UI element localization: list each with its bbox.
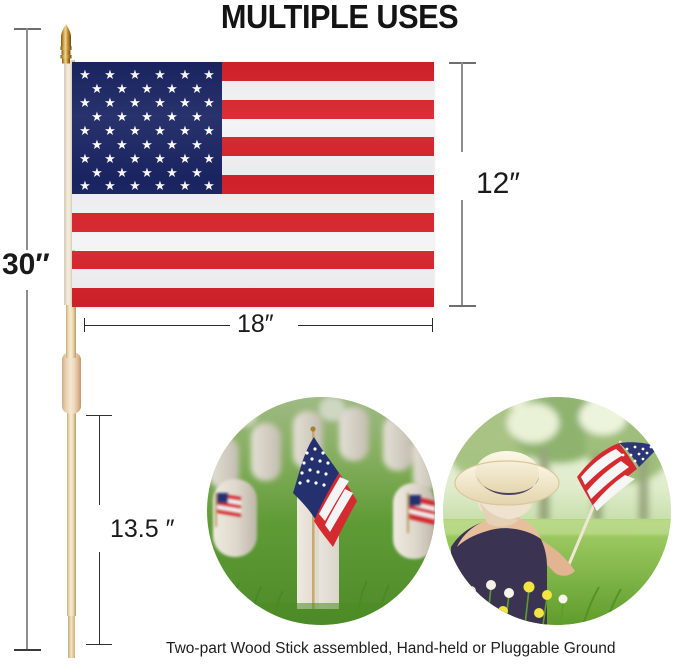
dimension-flag-height-label: 12″ <box>476 167 520 201</box>
flag-star: ★ <box>128 68 142 81</box>
flag-star: ★ <box>78 124 92 137</box>
flag-stripe-white-6 <box>72 269 434 288</box>
flag-star: ★ <box>78 96 92 109</box>
flag-star: ★ <box>202 68 216 81</box>
woman-with-flag-illustration <box>443 397 671 625</box>
pole-mid-shaft <box>66 300 76 358</box>
flag-star: ★ <box>90 82 104 95</box>
flag-star: ★ <box>153 179 167 192</box>
flag-star: ★ <box>115 110 129 123</box>
flag-star: ★ <box>190 166 204 179</box>
flag-star: ★ <box>178 96 192 109</box>
flag-star: ★ <box>202 179 216 192</box>
flag-star: ★ <box>128 152 142 165</box>
flag-star: ★ <box>153 124 167 137</box>
flag-star: ★ <box>103 68 117 81</box>
flag-star: ★ <box>178 124 192 137</box>
flag-star: ★ <box>115 166 129 179</box>
flag-star: ★ <box>90 110 104 123</box>
flag-star: ★ <box>128 179 142 192</box>
gold-spear-finial <box>54 24 78 64</box>
cemetery-scene-illustration <box>207 397 435 625</box>
flag-star: ★ <box>190 82 204 95</box>
flag-canton: ★ ★ ★ ★ ★ ★ ★ ★ ★ ★ ★ ★ ★ ★ ★ ★ ★ ★ ★ ★ … <box>72 62 222 194</box>
page-title: MULTIPLE USES <box>24 0 655 36</box>
dimension-lower-stick-bottom-cap <box>86 644 112 645</box>
woman-holding-flag-photo <box>443 397 671 625</box>
dimension-flag-width-label: 18″ <box>237 310 274 339</box>
flag-star: ★ <box>103 152 117 165</box>
united-states-flag: ★ ★ ★ ★ ★ ★ ★ ★ ★ ★ ★ ★ ★ ★ ★ ★ ★ ★ ★ ★ … <box>72 62 434 307</box>
cemetery-memorial-photo <box>207 397 435 625</box>
flag-star: ★ <box>128 96 142 109</box>
dimension-lower-stick-label: 13.5 ″ <box>110 515 174 544</box>
flag-star: ★ <box>115 82 129 95</box>
pole-tip <box>68 610 75 658</box>
flag-star: ★ <box>103 96 117 109</box>
flag-star: ★ <box>90 166 104 179</box>
flag-star: ★ <box>78 179 92 192</box>
dimension-total-length-line-lower <box>26 290 28 650</box>
flag-star: ★ <box>140 138 154 151</box>
flag-star: ★ <box>202 152 216 165</box>
dimension-flag-height-bottom-cap <box>449 305 476 307</box>
flag-star: ★ <box>165 138 179 151</box>
dimension-flag-width-line-left <box>84 325 230 326</box>
flag-star: ★ <box>178 179 192 192</box>
product-infographic: MULTIPLE USES 30″ <box>0 0 679 666</box>
dimension-flag-width-line-right <box>298 325 433 326</box>
flag-stripe-red-5 <box>72 213 434 232</box>
flag-stripe-red-7 <box>72 288 434 307</box>
finial-icon <box>54 24 78 64</box>
flag-star: ★ <box>153 68 167 81</box>
flag-star: ★ <box>140 82 154 95</box>
flag-star: ★ <box>153 96 167 109</box>
flag-star: ★ <box>78 68 92 81</box>
flag-star: ★ <box>165 166 179 179</box>
flag-star: ★ <box>178 68 192 81</box>
flag-star: ★ <box>90 138 104 151</box>
dimension-total-length-label: 30″ <box>2 248 50 282</box>
dimension-lower-stick-line-upper <box>99 415 100 505</box>
dimension-total-length-line-upper <box>26 28 28 250</box>
flag-star: ★ <box>165 82 179 95</box>
flag-star: ★ <box>190 138 204 151</box>
flag-star: ★ <box>153 152 167 165</box>
flag-star: ★ <box>202 124 216 137</box>
flag-star: ★ <box>178 152 192 165</box>
flag-star: ★ <box>78 152 92 165</box>
flag-star: ★ <box>165 110 179 123</box>
flag-star: ★ <box>128 124 142 137</box>
flag-star: ★ <box>140 110 154 123</box>
flag-stripe-red-6 <box>72 251 434 270</box>
flag-star: ★ <box>140 166 154 179</box>
dimension-flag-height-line-upper <box>461 62 463 152</box>
dimension-flag-width-right-cap <box>432 318 433 332</box>
pole-joint-ferrule <box>62 352 81 414</box>
dimension-lower-stick-line-lower <box>99 552 100 645</box>
bottom-caption: Two-part Wood Stick assembled, Hand-held… <box>166 640 615 658</box>
flag-star: ★ <box>190 110 204 123</box>
dimension-total-length-bottom-cap <box>14 649 41 651</box>
flag-stripe-white-5 <box>72 232 434 251</box>
dimension-flag-height-line-lower <box>461 200 463 306</box>
flag-stripe-white-4 <box>72 194 434 213</box>
flag-star: ★ <box>115 138 129 151</box>
flag-star: ★ <box>103 179 117 192</box>
flag-star: ★ <box>103 124 117 137</box>
pole-lower-shaft <box>67 408 76 616</box>
flag-star: ★ <box>202 96 216 109</box>
